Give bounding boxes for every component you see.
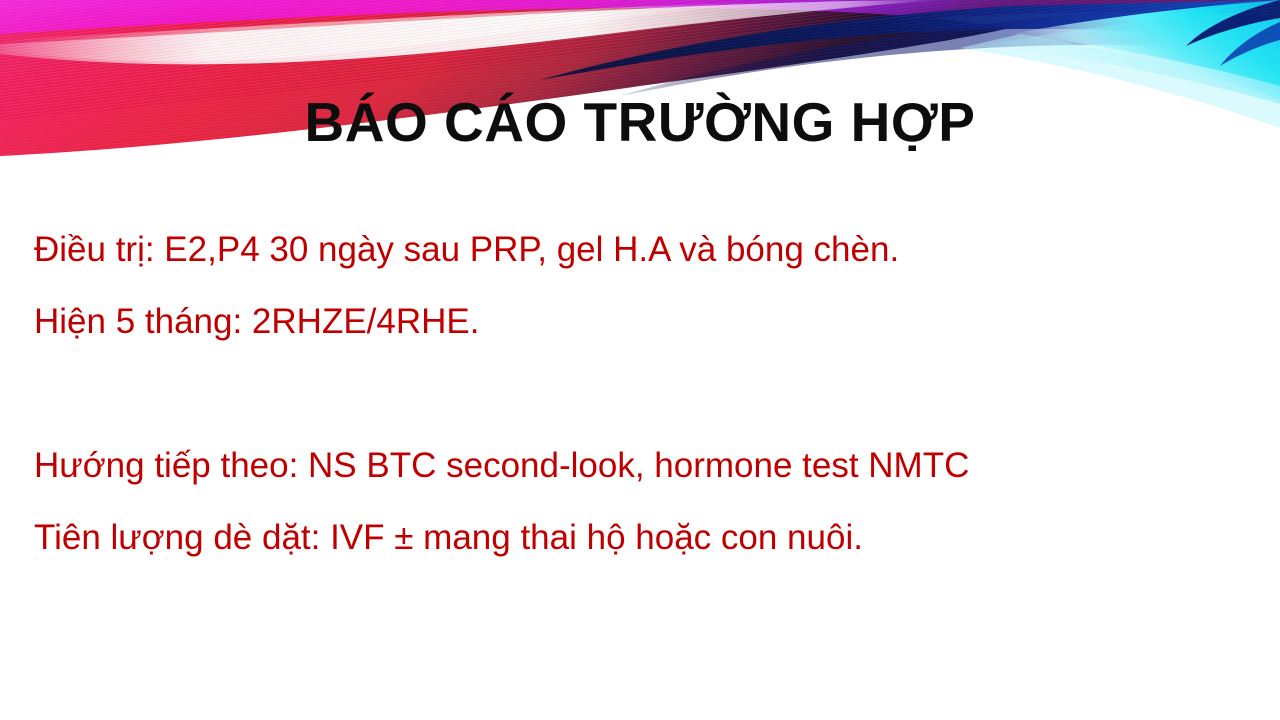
banner-white-streak-thin xyxy=(0,2,760,61)
banner-cyan-blue-stripe xyxy=(1220,22,1280,66)
slide-body: Điều trị: E2,P4 30 ngày sau PRP, gel H.A… xyxy=(34,214,1254,574)
body-line-4: Tiên lượng dè dặt: IVF ± mang thai hộ ho… xyxy=(34,502,1254,574)
banner-white-streak xyxy=(0,0,940,64)
banner-wedge-navy-soft xyxy=(620,6,1280,96)
body-line-3: Hướng tiếp theo: NS BTC second-look, hor… xyxy=(34,430,1254,502)
body-line-blank xyxy=(34,358,1254,430)
slide-title: BÁO CÁO TRƯỜNG HỢP xyxy=(0,90,1280,154)
slide-canvas: BÁO CÁO TRƯỜNG HỢP Điều trị: E2,P4 30 ng… xyxy=(0,0,1280,720)
body-line-2: Hiện 5 tháng: 2RHZE/4RHE. xyxy=(34,286,1254,358)
banner-wedge-navy xyxy=(540,0,1280,80)
banner-ribbon-cyan xyxy=(1010,0,1280,86)
body-line-1: Điều trị: E2,P4 30 ngày sau PRP, gel H.A… xyxy=(34,214,1254,286)
banner-cyan-navy-stripe xyxy=(1186,0,1280,46)
